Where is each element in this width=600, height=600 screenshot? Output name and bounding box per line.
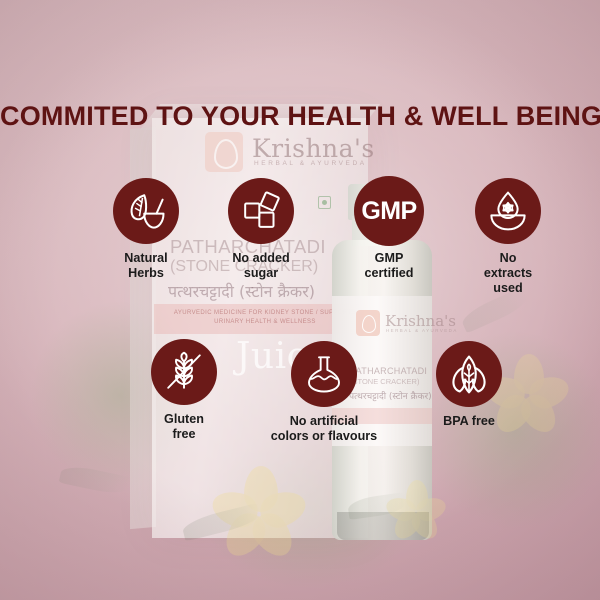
badge-label: Natural Herbs — [100, 251, 192, 281]
badge-no-artificial-colors-flavours[interactable]: No artificial colors or flavours — [278, 341, 370, 444]
badge-circle — [113, 178, 179, 244]
badge-no-added-sugar[interactable]: No added sugar — [215, 178, 307, 281]
badge-gluten-free[interactable]: Gluten free — [138, 339, 230, 442]
badge-circle — [228, 178, 294, 244]
badge-circle — [436, 341, 502, 407]
wheat-crossed-icon — [163, 351, 205, 393]
badge-label: No added sugar — [215, 251, 307, 281]
page-title: COMMITED TO YOUR HEALTH & WELL BEING — [0, 101, 600, 132]
promo-banner: Krishna's HERBAL & AYURVEDA PATHARCHATAD… — [0, 0, 600, 600]
badge-circle: GMP — [354, 176, 424, 246]
laboratory-flask-icon — [304, 354, 344, 394]
droplet-flower-bowl-icon — [487, 190, 529, 232]
bottle-krishnas-logo-icon — [356, 310, 380, 336]
krishnas-logo-icon — [205, 132, 243, 172]
badge-circle — [291, 341, 357, 407]
badge-label: No extracts used — [462, 251, 554, 296]
leaf-cluster-icon — [447, 352, 491, 396]
badge-label: No artificial colors or flavours — [259, 414, 389, 444]
sugar-cubes-icon — [241, 191, 281, 231]
leaf-mortar-pestle-icon — [125, 190, 167, 232]
bottle-brand-tagline: HERBAL & AYURVEDA — [386, 328, 458, 333]
gmp-text-icon: GMP — [361, 197, 416, 226]
badge-natural-herbs[interactable]: Natural Herbs — [100, 178, 192, 281]
carton-brand-name: Krishna's — [252, 134, 375, 163]
carton-brand-tagline: HERBAL & AYURVEDA — [254, 160, 367, 167]
badge-circle — [151, 339, 217, 405]
badge-label: BPA free — [423, 414, 515, 429]
badge-no-extracts-used[interactable]: No extracts used — [462, 178, 554, 296]
vegetarian-mark-icon — [318, 196, 331, 209]
badge-label: Gluten free — [138, 412, 230, 442]
badge-gmp-certified[interactable]: GMP GMP certified — [343, 176, 435, 281]
badge-label: GMP certified — [343, 251, 435, 281]
badge-bpa-free[interactable]: BPA free — [423, 341, 515, 429]
badge-circle — [475, 178, 541, 244]
